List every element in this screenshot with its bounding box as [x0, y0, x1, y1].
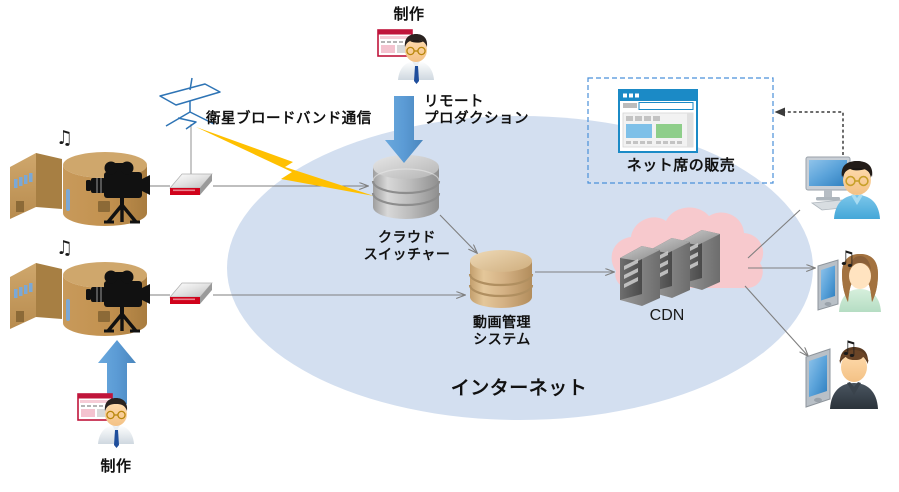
music-note-icon-venue-bottom: ♫ [56, 237, 73, 259]
viewer-pc-icon [806, 157, 880, 219]
diagram-canvas: ♫ ♫ [0, 0, 899, 492]
label-internet: インターネット [424, 378, 614, 400]
label-net-ticket-sales: ネット席の販売 [603, 157, 759, 175]
network-router-icon-top [170, 174, 212, 195]
music-note-icon-venue-top: ♫ [56, 127, 73, 149]
cloud-switcher-db-icon [373, 155, 439, 219]
label-video-management-system: 動画管理システム [448, 314, 556, 347]
label-cloud-switcher: クラウドスイッチャー [354, 229, 460, 262]
music-note-icon-viewer-man: ♫ [840, 336, 858, 360]
video-management-db-icon [470, 250, 532, 308]
label-production-bottom: 制作 [86, 458, 146, 476]
label-satellite-broadband: 衛星ブロードバンド通信 [206, 111, 386, 128]
browser-window-icon [619, 90, 697, 152]
ticket-feedback-arrow [776, 112, 843, 155]
label-cdn: CDN [627, 307, 707, 326]
network-router-icon-bottom [170, 283, 212, 304]
music-note-icon-viewer-woman: ♫ [838, 246, 856, 270]
label-remote-production: リモートプロダクション [424, 94, 544, 128]
operator-top-icon [378, 30, 434, 84]
label-production-top: 制作 [379, 6, 439, 24]
